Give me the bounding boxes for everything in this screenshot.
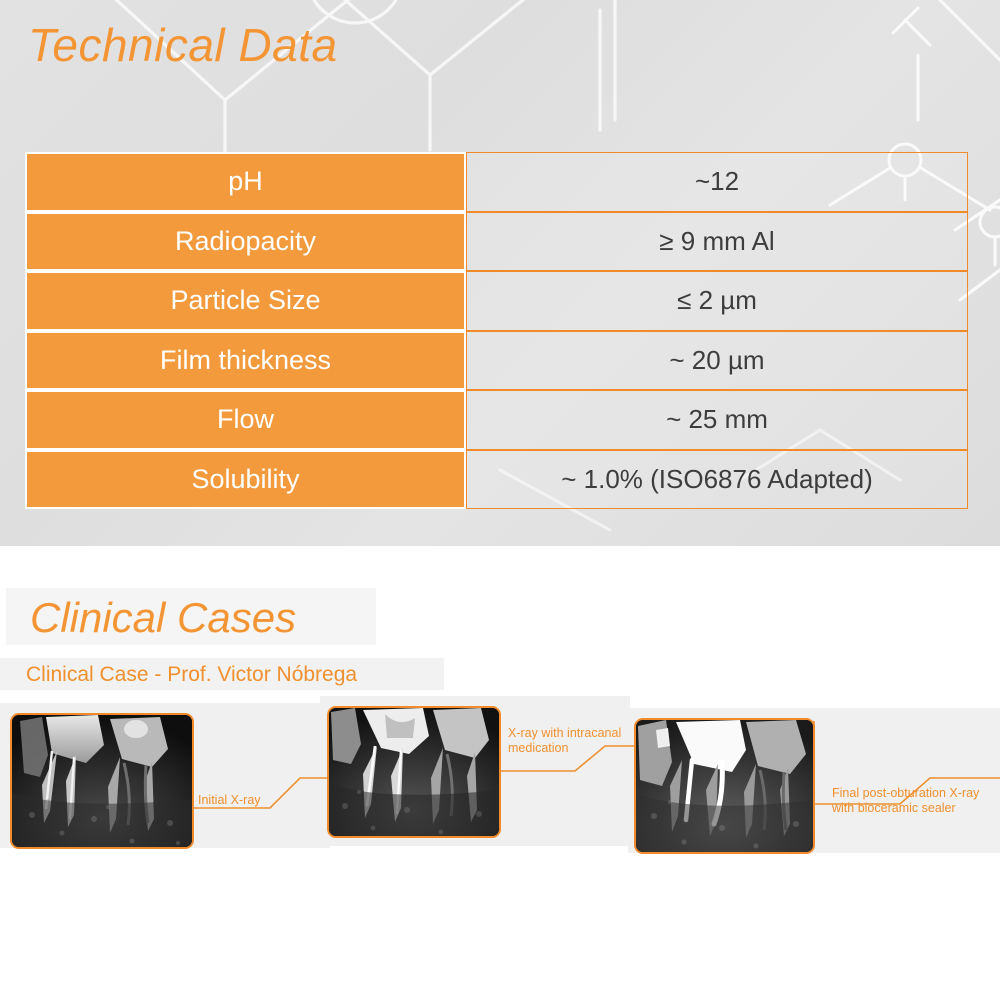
table-row: Flow ~ 25 mm — [25, 390, 968, 450]
xray-image-post-obturation[interactable] — [634, 718, 815, 854]
clinical-case-subtitle: Clinical Case - Prof. Victor Nóbrega — [26, 663, 357, 687]
table-row: Film thickness ~ 20 µm — [25, 331, 968, 391]
case-caption-initial: Initial X-ray — [198, 793, 261, 808]
value-cell: ≤ 2 µm — [466, 271, 968, 331]
case-caption-intracanal: X-ray with intracanal medication — [508, 726, 621, 756]
table-row: pH ~12 — [25, 152, 968, 212]
case-caption-post-obturation: Final post-obturation X-ray with biocera… — [832, 786, 979, 816]
page-title: Technical Data — [28, 18, 338, 72]
property-cell: Film thickness — [25, 331, 466, 391]
value-cell: ~12 — [466, 152, 968, 212]
value-cell: ≥ 9 mm Al — [466, 212, 968, 272]
xray-image-initial[interactable] — [10, 713, 194, 849]
table-row: Solubility ~ 1.0% (ISO6876 Adapted) — [25, 450, 968, 510]
technical-data-table: pH ~12 Radiopacity ≥ 9 mm Al Particle Si… — [25, 152, 968, 509]
value-cell: ~ 1.0% (ISO6876 Adapted) — [466, 450, 968, 510]
value-cell: ~ 25 mm — [466, 390, 968, 450]
property-cell: pH — [25, 152, 466, 212]
technical-data-panel: Technical Data pH ~12 Radiopacity ≥ 9 mm… — [0, 0, 1000, 546]
property-cell: Solubility — [25, 450, 466, 510]
clinical-cases-title: Clinical Cases — [30, 594, 296, 642]
property-cell: Radiopacity — [25, 212, 466, 272]
property-cell: Particle Size — [25, 271, 466, 331]
xray-image-intracanal[interactable] — [327, 706, 501, 838]
table-row: Particle Size ≤ 2 µm — [25, 271, 968, 331]
value-cell: ~ 20 µm — [466, 331, 968, 391]
table-row: Radiopacity ≥ 9 mm Al — [25, 212, 968, 272]
clinical-cases-panel: Clinical Cases Clinical Case - Prof. Vic… — [0, 546, 1000, 1000]
property-cell: Flow — [25, 390, 466, 450]
